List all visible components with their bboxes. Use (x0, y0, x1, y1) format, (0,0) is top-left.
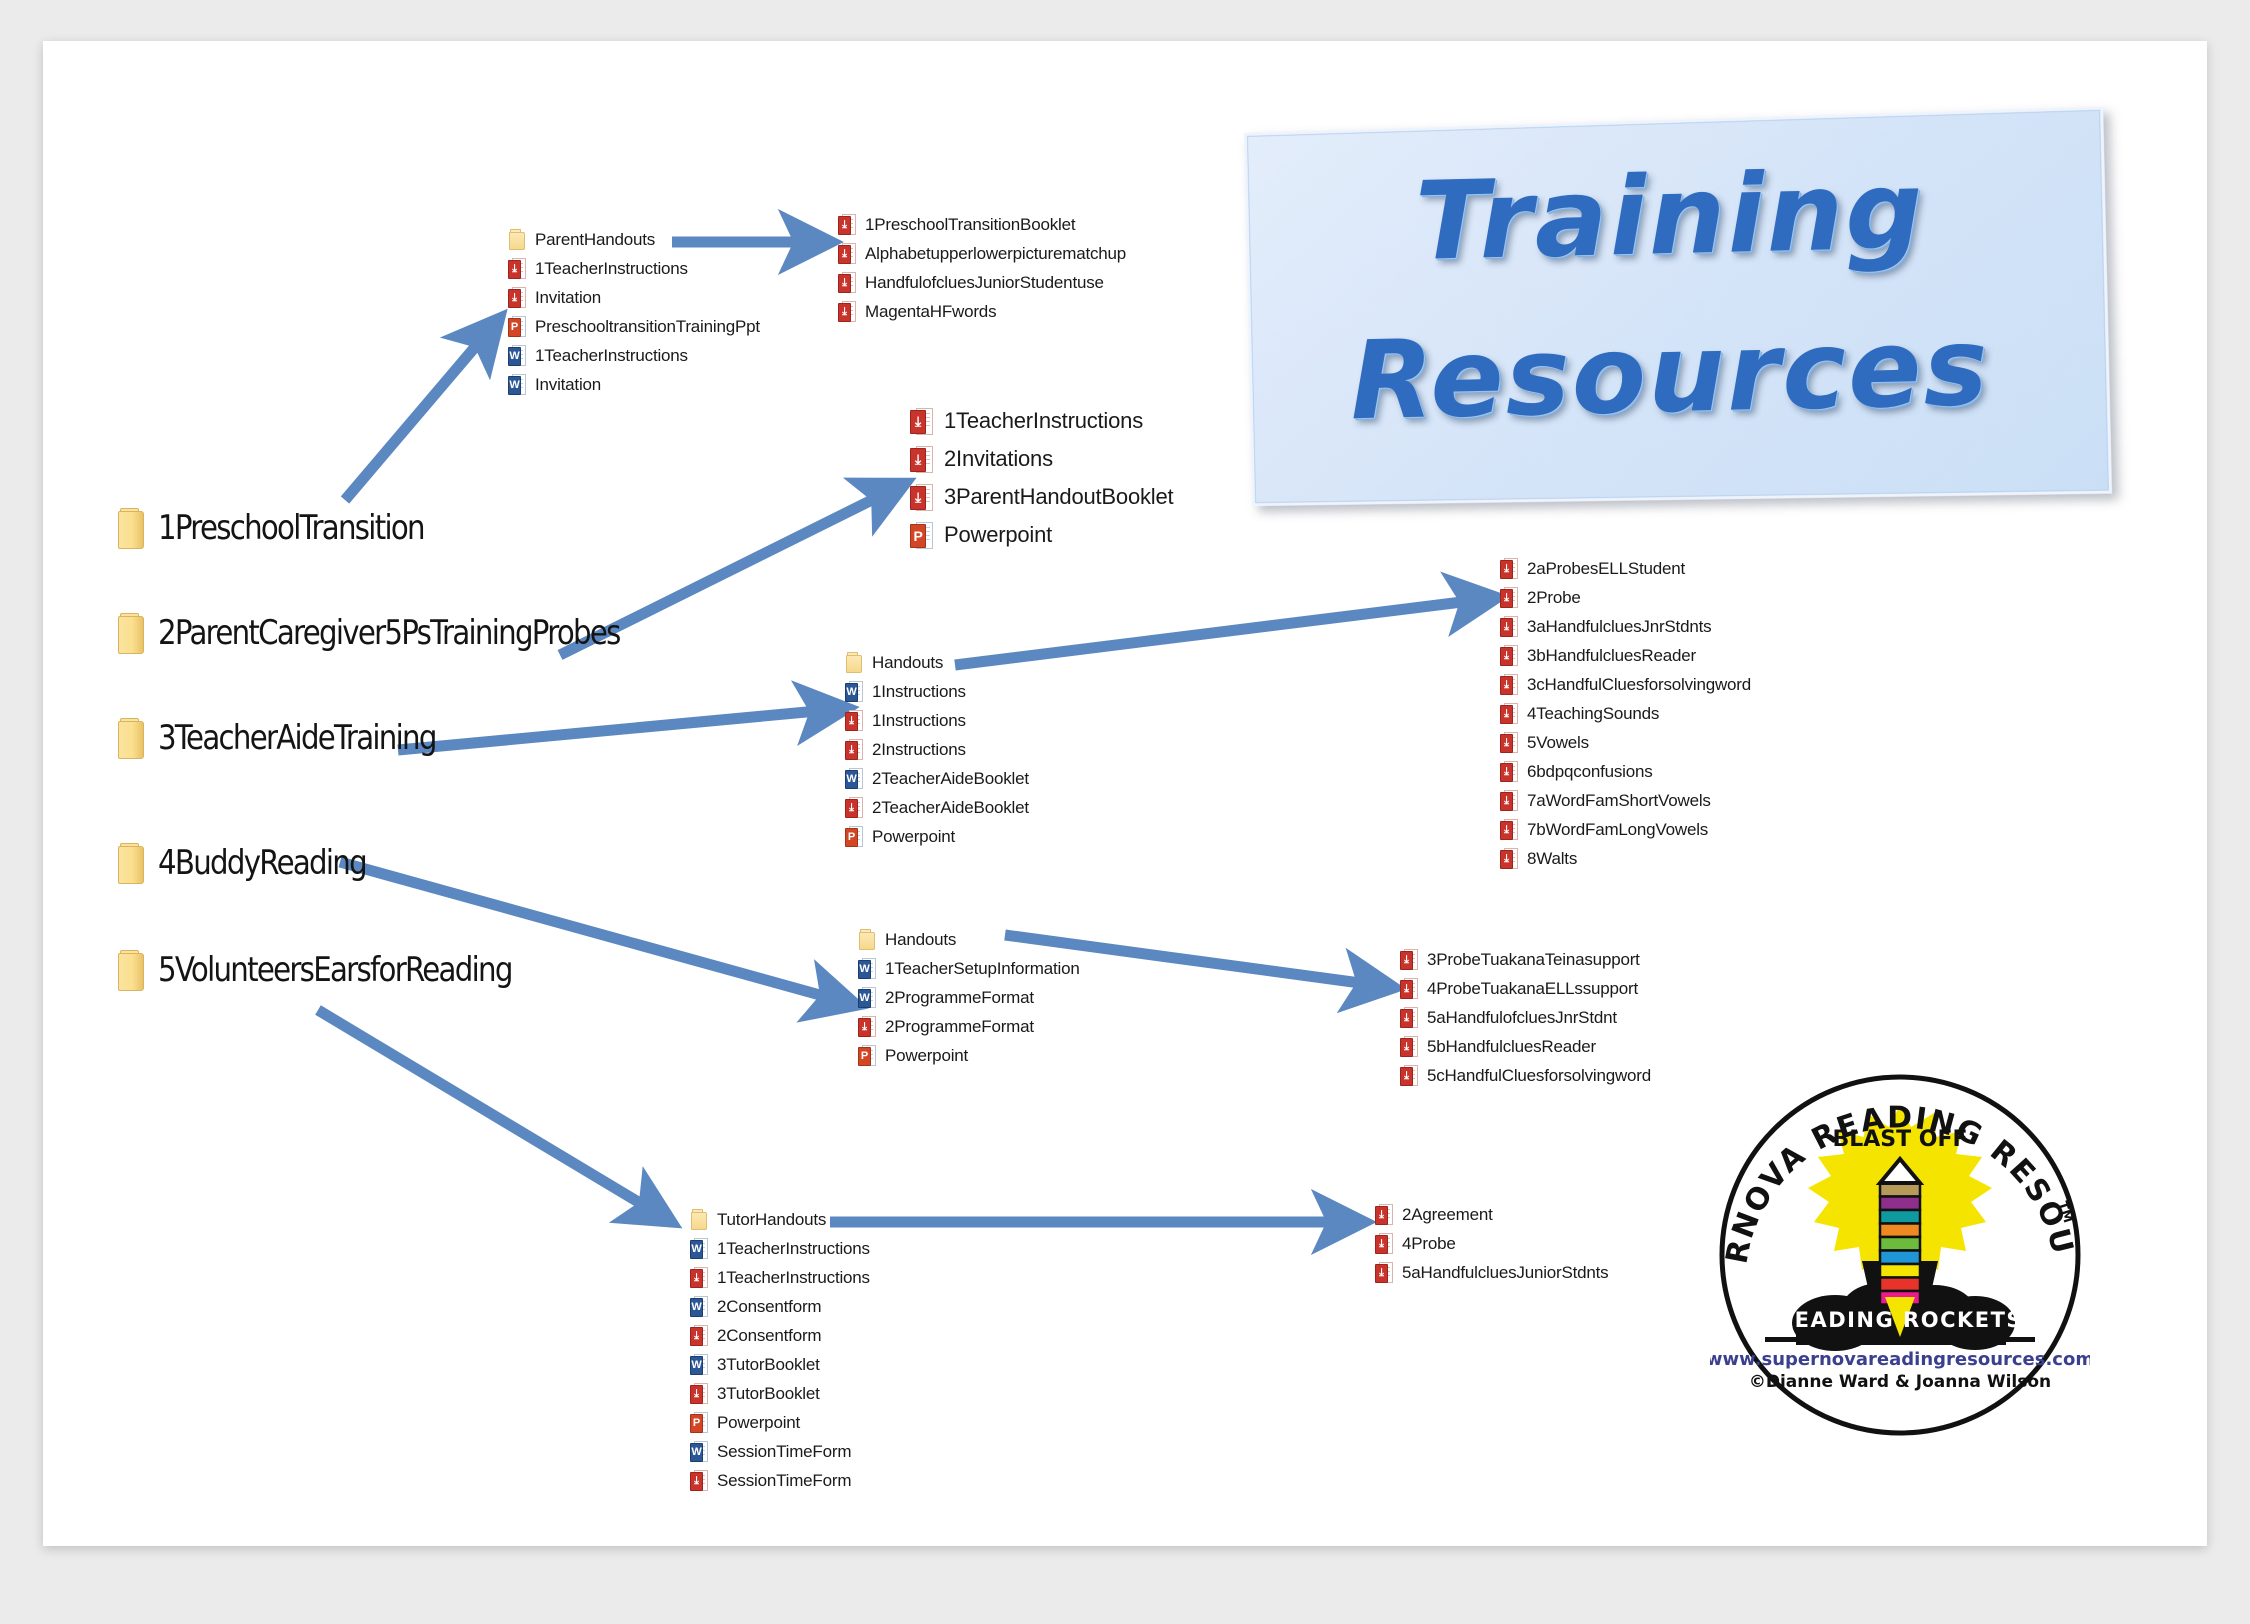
pdf-file-icon: ⤓ (1375, 1262, 1393, 1283)
file-name: 5aHandfulcluesJuniorStdnts (1402, 1263, 1609, 1283)
file-name: 3bHandfulcluesReader (1527, 646, 1696, 666)
word-file-icon: W (858, 958, 876, 979)
file-name: PreschooltransitionTrainingPpt (535, 317, 760, 337)
file-name: 3cHandfulCluesforsolvingword (1527, 675, 1751, 695)
pdf-file-icon: ⤓ (838, 272, 856, 293)
root-folder-1preschooltransition[interactable]: 1PreschoolTransition (118, 508, 467, 548)
pdf-file-icon: ⤓ (1500, 761, 1518, 782)
file-item[interactable]: ⤓4TeachingSounds (1500, 699, 1751, 728)
file-name: 4TeachingSounds (1527, 704, 1659, 724)
file-item[interactable]: Handouts (845, 648, 1029, 677)
root-folder-3teacheraidetraining[interactable]: 3TeacherAideTraining (118, 718, 481, 758)
pdf-file-icon: ⤓ (1375, 1204, 1393, 1225)
file-item[interactable]: ⤓1PreschoolTransitionBooklet (838, 210, 1126, 239)
folder-icon (118, 718, 144, 758)
file-name: Powerpoint (717, 1413, 800, 1433)
file-item[interactable]: ⤓5aHandfulcluesJuniorStdnts (1375, 1258, 1609, 1287)
pdf-file-icon: ⤓ (690, 1383, 708, 1404)
file-name: HandfulofcluesJuniorStudentuse (865, 273, 1104, 293)
file-name: 3TutorBooklet (717, 1355, 820, 1375)
file-item[interactable]: ⤓1Instructions (845, 706, 1029, 735)
banner-line-2: Resources (1239, 302, 2102, 446)
banner-line-1: Training (1239, 144, 2102, 288)
file-item[interactable]: ⤓4Probe (1375, 1229, 1609, 1258)
file-name: 4ProbeTuakanaELLssupport (1427, 979, 1638, 999)
pdf-file-icon: ⤓ (690, 1325, 708, 1346)
pdf-file-icon: ⤓ (838, 301, 856, 322)
file-item[interactable]: ⤓4ProbeTuakanaELLssupport (1400, 974, 1651, 1003)
logo-subtitle: READING ROCKETS (1777, 1308, 2023, 1332)
file-item[interactable]: ⤓2TeacherAideBooklet (845, 793, 1029, 822)
word-file-icon: W (858, 987, 876, 1008)
file-item[interactable]: W1Instructions (845, 677, 1029, 706)
file-name: Handouts (885, 930, 956, 950)
pdf-file-icon: ⤓ (1500, 819, 1518, 840)
file-item[interactable]: ⤓3aHandfulcluesJnrStdnts (1500, 612, 1751, 641)
word-file-icon: W (690, 1296, 708, 1317)
pdf-file-icon: ⤓ (845, 710, 863, 731)
file-item[interactable]: ⤓1TeacherInstructions (690, 1263, 870, 1292)
file-name: 5aHandfulofcluesJnrStdnt (1427, 1008, 1617, 1028)
file-name: Invitation (535, 375, 601, 395)
file-name: 4Probe (1402, 1234, 1456, 1254)
file-name: 2Consentform (717, 1326, 821, 1346)
file-item[interactable]: ⤓SessionTimeForm (690, 1466, 870, 1495)
file-item[interactable]: PPreschooltransitionTrainingPpt (508, 312, 760, 341)
pdf-file-icon: ⤓ (1400, 1007, 1418, 1028)
file-item[interactable]: WInvitation (508, 370, 760, 399)
folder-icon (845, 652, 863, 673)
file-name: 5cHandfulCluesforsolvingword (1427, 1066, 1651, 1086)
file-item[interactable]: ⤓1TeacherInstructions (910, 402, 1173, 440)
pdf-file-icon: ⤓ (1500, 848, 1518, 869)
rocket-body (1880, 1183, 1920, 1305)
file-item[interactable]: ⤓3cHandfulCluesforsolvingword (1500, 670, 1751, 699)
root-folder-label: 3TeacherAideTraining (158, 721, 436, 755)
file-name: 1TeacherInstructions (944, 408, 1143, 434)
rocket-segment (1880, 1251, 1920, 1265)
file-name: 1TeacherInstructions (535, 346, 688, 366)
file-name: 1TeacherSetupInformation (885, 959, 1080, 979)
pdf-file-icon: ⤓ (838, 243, 856, 264)
file-name: 2Agreement (1402, 1205, 1493, 1225)
file-item[interactable]: W3TutorBooklet (690, 1350, 870, 1379)
file-item[interactable]: ⤓Invitation (508, 283, 760, 312)
file-name: 2aProbesELLStudent (1527, 559, 1685, 579)
folder-icon (508, 229, 526, 250)
file-item[interactable]: ⤓5aHandfulofcluesJnrStdnt (1400, 1003, 1651, 1032)
file-group-parent-caregiver[interactable]: ⤓1TeacherInstructions⤓2Invitations⤓3Pare… (910, 402, 1173, 554)
pdf-file-icon: ⤓ (1500, 616, 1518, 637)
folder-icon (118, 613, 144, 653)
file-item[interactable]: PPowerpoint (845, 822, 1029, 851)
pdf-file-icon: ⤓ (1400, 949, 1418, 970)
folder-icon (118, 843, 144, 883)
file-item[interactable]: ⤓2ProgrammeFormat (858, 1012, 1080, 1041)
root-folder-4buddyreading[interactable]: 4BuddyReading (118, 843, 400, 883)
rocket-segment (1880, 1278, 1920, 1292)
file-name: 2TeacherAideBooklet (872, 769, 1029, 789)
file-name: SessionTimeForm (717, 1442, 851, 1462)
folder-icon (858, 929, 876, 950)
file-item[interactable]: ⤓8Walts (1500, 844, 1751, 873)
file-name: 5Vowels (1527, 733, 1589, 753)
powerpoint-file-icon: P (910, 522, 933, 549)
file-item[interactable]: W1TeacherInstructions (508, 341, 760, 370)
file-name: 2ProgrammeFormat (885, 1017, 1034, 1037)
file-item[interactable]: W2Consentform (690, 1292, 870, 1321)
file-item[interactable]: W1TeacherSetupInformation (858, 954, 1080, 983)
file-name: 3ParentHandoutBooklet (944, 484, 1173, 510)
pdf-file-icon: ⤓ (1400, 978, 1418, 999)
pdf-file-icon: ⤓ (1500, 558, 1518, 579)
file-item[interactable]: ⤓5bHandfulcluesReader (1400, 1032, 1651, 1061)
file-name: Handouts (872, 653, 943, 673)
file-group-tutor-handouts[interactable]: TutorHandoutsW1TeacherInstructions⤓1Teac… (690, 1205, 870, 1495)
file-name: Alphabetupperlowerpicturematchup (865, 244, 1126, 264)
file-name: 7aWordFamShortVowels (1527, 791, 1711, 811)
file-name: 1Instructions (872, 711, 966, 731)
file-group-parent-handouts[interactable]: ParentHandouts⤓1TeacherInstructions⤓Invi… (508, 225, 760, 399)
file-name: ParentHandouts (535, 230, 655, 250)
file-item[interactable]: W2ProgrammeFormat (858, 983, 1080, 1012)
file-item[interactable]: ⤓2Instructions (845, 735, 1029, 764)
pdf-file-icon: ⤓ (845, 739, 863, 760)
file-item[interactable]: ⤓5Vowels (1500, 728, 1751, 757)
powerpoint-file-icon: P (845, 826, 863, 847)
file-group-tuakana-probes[interactable]: ⤓3ProbeTuakanaTeinasupport⤓4ProbeTuakana… (1400, 945, 1651, 1090)
root-folder-label: 1PreschoolTransition (158, 511, 424, 545)
pdf-file-icon: ⤓ (1500, 674, 1518, 695)
file-item[interactable]: ⤓7bWordFamLongVowels (1500, 815, 1751, 844)
file-item[interactable]: ⤓7aWordFamShortVowels (1500, 786, 1751, 815)
word-file-icon: W (845, 681, 863, 702)
file-name: Invitation (535, 288, 601, 308)
file-item[interactable]: ⤓3TutorBooklet (690, 1379, 870, 1408)
file-name: SessionTimeForm (717, 1471, 851, 1491)
word-file-icon: W (690, 1354, 708, 1375)
word-file-icon: W (845, 768, 863, 789)
pdf-file-icon: ⤓ (1500, 703, 1518, 724)
word-file-icon: W (508, 374, 526, 395)
file-group-teacher-aide-handouts[interactable]: HandoutsW1Instructions⤓1Instructions⤓2In… (845, 648, 1029, 851)
file-name: 5bHandfulcluesReader (1427, 1037, 1596, 1057)
file-item[interactable]: ⤓2Agreement (1375, 1200, 1609, 1229)
pdf-file-icon: ⤓ (690, 1267, 708, 1288)
logo-svg: BLAST OFF SUPERNOVA READING RESOURCES TM (1710, 1065, 2090, 1445)
file-name: 2Probe (1527, 588, 1581, 608)
file-name: 3ProbeTuakanaTeinasupport (1427, 950, 1640, 970)
file-item[interactable]: W1TeacherInstructions (690, 1234, 870, 1263)
file-name: 1PreschoolTransitionBooklet (865, 215, 1075, 235)
file-item[interactable]: PPowerpoint (910, 516, 1173, 554)
file-item[interactable]: ⤓2aProbesELLStudent (1500, 554, 1751, 583)
word-file-icon: W (690, 1441, 708, 1462)
file-name: TutorHandouts (717, 1210, 826, 1230)
rocket-segment (1880, 1183, 1920, 1197)
file-name: 7bWordFamLongVowels (1527, 820, 1708, 840)
file-item[interactable]: ⤓3ProbeTuakanaTeinasupport (1400, 945, 1651, 974)
title-banner: Training Resources (1240, 120, 2100, 500)
pdf-file-icon: ⤓ (1375, 1233, 1393, 1254)
folder-icon (118, 508, 144, 548)
powerpoint-file-icon: P (508, 316, 526, 337)
file-name: 1TeacherInstructions (717, 1268, 870, 1288)
root-folder-label: 2ParentCaregiver5PsTrainingProbes (158, 616, 620, 650)
logo-website: www.supernovareadingresources.com (1710, 1349, 2090, 1370)
file-group-buddy-handouts[interactable]: HandoutsW1TeacherSetupInformationW2Progr… (858, 925, 1080, 1070)
file-item[interactable]: ⤓2Invitations (910, 440, 1173, 478)
file-item[interactable]: WSessionTimeForm (690, 1437, 870, 1466)
file-name: 1Instructions (872, 682, 966, 702)
file-name: Powerpoint (885, 1046, 968, 1066)
file-name: 3aHandfulcluesJnrStdnts (1527, 617, 1711, 637)
file-item[interactable]: ⤓Alphabetupperlowerpicturematchup (838, 239, 1126, 268)
logo-credit: ©Dianne Ward & Joanna Wilson (1749, 1372, 2051, 1392)
supernova-logo: BLAST OFF SUPERNOVA READING RESOURCES TM (1710, 1065, 2090, 1445)
folder-icon (118, 950, 144, 990)
root-folder-2parentcaregiver5pstrainingprobes[interactable]: 2ParentCaregiver5PsTrainingProbes (118, 613, 695, 653)
file-item[interactable]: ⤓3ParentHandoutBooklet (910, 478, 1173, 516)
file-group-volunteer-probes[interactable]: ⤓2Agreement⤓4Probe⤓5aHandfulcluesJuniorS… (1375, 1200, 1609, 1287)
file-name: 2Instructions (872, 740, 966, 760)
file-item[interactable]: ⤓MagentaHFwords (838, 297, 1126, 326)
file-item[interactable]: TutorHandouts (690, 1205, 870, 1234)
pdf-file-icon: ⤓ (910, 446, 933, 473)
rocket-segment (1880, 1197, 1920, 1211)
file-group-preschool-booklets[interactable]: ⤓1PreschoolTransitionBooklet⤓Alphabetupp… (838, 210, 1126, 326)
slide-canvas: 1PreschoolTransition 2ParentCaregiver5Ps… (0, 0, 2250, 1624)
powerpoint-file-icon: P (858, 1045, 876, 1066)
file-name: 2TeacherAideBooklet (872, 798, 1029, 818)
root-folder-label: 5VolunteersEarsforReading (158, 953, 512, 987)
powerpoint-file-icon: P (690, 1412, 708, 1433)
pdf-file-icon: ⤓ (508, 258, 526, 279)
pdf-file-icon: ⤓ (910, 484, 933, 511)
pdf-file-icon: ⤓ (845, 797, 863, 818)
root-folder-label: 4BuddyReading (158, 846, 366, 880)
file-item[interactable]: ⤓1TeacherInstructions (508, 254, 760, 283)
file-name: 2Invitations (944, 446, 1053, 472)
file-name: Powerpoint (944, 522, 1052, 548)
pdf-file-icon: ⤓ (1500, 645, 1518, 666)
pdf-file-icon: ⤓ (1500, 587, 1518, 608)
file-item[interactable]: ⤓6bdpqconfusions (1500, 757, 1751, 786)
rocket-segment (1880, 1210, 1920, 1224)
file-item[interactable]: W2TeacherAideBooklet (845, 764, 1029, 793)
file-item[interactable]: PPowerpoint (858, 1041, 1080, 1070)
file-item[interactable]: ⤓2Consentform (690, 1321, 870, 1350)
file-name: 6bdpqconfusions (1527, 762, 1653, 782)
file-item[interactable]: ⤓2Probe (1500, 583, 1751, 612)
pdf-file-icon: ⤓ (1500, 732, 1518, 753)
folder-icon (690, 1209, 708, 1230)
pdf-file-icon: ⤓ (508, 287, 526, 308)
file-name: 2Consentform (717, 1297, 821, 1317)
file-name: MagentaHFwords (865, 302, 996, 322)
file-name: Powerpoint (872, 827, 955, 847)
pdf-file-icon: ⤓ (690, 1470, 708, 1491)
pdf-file-icon: ⤓ (1500, 790, 1518, 811)
file-name: 3TutorBooklet (717, 1384, 820, 1404)
pdf-file-icon: ⤓ (910, 408, 933, 435)
file-name: 1TeacherInstructions (535, 259, 688, 279)
pdf-file-icon: ⤓ (858, 1016, 876, 1037)
rocket-segment (1880, 1237, 1920, 1251)
file-name: 2ProgrammeFormat (885, 988, 1034, 1008)
file-group-probes[interactable]: ⤓2aProbesELLStudent⤓2Probe⤓3aHandfulclue… (1500, 554, 1751, 873)
file-item[interactable]: Handouts (858, 925, 1080, 954)
pdf-file-icon: ⤓ (838, 214, 856, 235)
rocket-segment (1880, 1264, 1920, 1278)
file-item[interactable]: ⤓HandfulofcluesJuniorStudentuse (838, 268, 1126, 297)
file-item[interactable]: ⤓5cHandfulCluesforsolvingword (1400, 1061, 1651, 1090)
root-folder-5volunteersearsforreading[interactable]: 5VolunteersEarsforReading (118, 950, 569, 990)
word-file-icon: W (508, 345, 526, 366)
file-name: 8Walts (1527, 849, 1577, 869)
file-name: 1TeacherInstructions (717, 1239, 870, 1259)
file-item[interactable]: ParentHandouts (508, 225, 760, 254)
rocket-segment (1880, 1224, 1920, 1238)
pdf-file-icon: ⤓ (1400, 1065, 1418, 1086)
pdf-file-icon: ⤓ (1400, 1036, 1418, 1057)
word-file-icon: W (690, 1238, 708, 1259)
file-item[interactable]: PPowerpoint (690, 1408, 870, 1437)
ground-line (1765, 1337, 2035, 1342)
file-item[interactable]: ⤓3bHandfulcluesReader (1500, 641, 1751, 670)
